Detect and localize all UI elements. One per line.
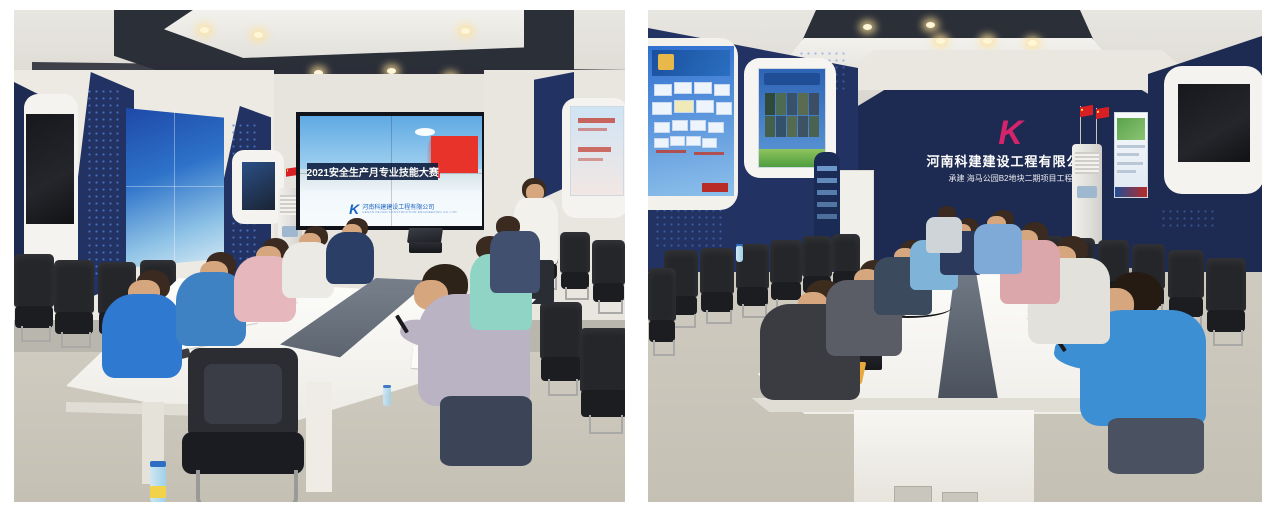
person-seated bbox=[326, 218, 378, 284]
air-conditioner bbox=[1072, 144, 1102, 244]
screen-seam bbox=[391, 116, 392, 226]
video-wall-seam bbox=[174, 110, 175, 265]
office-chair-foreground[interactable] bbox=[182, 348, 304, 502]
office-chair[interactable] bbox=[540, 302, 582, 394]
left-scene: 2021安全生产月专业技能大赛 K 河南科建建设工程有限公司 HENAN KEJ… bbox=[14, 10, 625, 502]
organization-chart-board[interactable] bbox=[648, 46, 734, 196]
cloud-icon bbox=[415, 128, 435, 136]
photo-right: K 河南科建建设工程有限公司 承建 海马公园B2地块二期项目工程 bbox=[648, 10, 1262, 502]
ceiling-spotlight bbox=[936, 38, 945, 44]
k-logo-icon: K bbox=[883, 120, 1138, 147]
ceiling-spotlight bbox=[254, 32, 263, 38]
control-display[interactable] bbox=[242, 162, 275, 210]
ac-control-panel bbox=[1077, 186, 1096, 198]
office-chair[interactable] bbox=[14, 254, 54, 340]
ceiling-spotlight bbox=[200, 27, 209, 33]
water-bottle bbox=[736, 246, 743, 262]
photo-grid-board[interactable] bbox=[758, 68, 826, 168]
table-pedestal bbox=[854, 410, 1034, 502]
slide-company-name-en: HENAN KEJIAN CONSTRUCTION ENGINEERING CO… bbox=[362, 211, 457, 214]
office-chair[interactable] bbox=[54, 260, 94, 346]
ceiling-spotlight bbox=[983, 38, 992, 44]
video-wall-seam bbox=[126, 186, 224, 187]
screen-seam bbox=[300, 173, 482, 174]
notice-poster[interactable] bbox=[1114, 112, 1148, 198]
wall-dot-texture bbox=[1160, 208, 1216, 230]
wall-television bbox=[26, 114, 74, 224]
wall-poster bbox=[570, 106, 624, 196]
table-leg bbox=[306, 382, 332, 492]
k-logo-icon: K bbox=[349, 201, 359, 217]
wall-dot-texture bbox=[86, 88, 120, 278]
ceiling-spotlight bbox=[863, 24, 872, 30]
person-seated bbox=[484, 216, 542, 294]
wall-television[interactable] bbox=[1178, 84, 1250, 162]
ceiling-spotlight bbox=[926, 22, 935, 28]
office-chair[interactable] bbox=[648, 268, 676, 354]
floor-power-outlet[interactable] bbox=[894, 486, 932, 502]
office-chair[interactable] bbox=[592, 240, 625, 312]
laptop[interactable] bbox=[408, 228, 442, 254]
person-seated-far bbox=[924, 206, 964, 252]
person-seated bbox=[972, 210, 1026, 274]
ac-grill bbox=[1075, 152, 1099, 174]
office-chair[interactable] bbox=[560, 232, 590, 298]
slide-title-bar: 2021安全生产月专业技能大赛 bbox=[307, 163, 438, 180]
office-chair[interactable] bbox=[580, 328, 625, 432]
ceiling-spotlight bbox=[461, 28, 470, 34]
led-video-wall[interactable] bbox=[126, 108, 224, 268]
floor-power-outlet[interactable] bbox=[942, 492, 978, 502]
slide-title: 2021安全生产月专业技能大赛 bbox=[307, 164, 439, 179]
chinese-flag bbox=[286, 167, 296, 176]
office-chair[interactable] bbox=[700, 248, 734, 322]
ceiling-spotlight bbox=[1028, 40, 1037, 46]
photo-left: 2021安全生产月专业技能大赛 K 河南科建建设工程有限公司 HENAN KEJ… bbox=[14, 10, 625, 502]
water-bottle bbox=[150, 466, 166, 502]
right-scene: K 河南科建建设工程有限公司 承建 海马公园B2地块二期项目工程 bbox=[648, 10, 1262, 502]
photo-pair-composite: 2021安全生产月专业技能大赛 K 河南科建建设工程有限公司 HENAN KEJ… bbox=[0, 0, 1276, 509]
water-bottle bbox=[383, 388, 391, 406]
slide-logo-row: K 河南科建建设工程有限公司 HENAN KEJIAN CONSTRUCTION… bbox=[349, 201, 457, 217]
office-chair[interactable] bbox=[1206, 258, 1246, 344]
